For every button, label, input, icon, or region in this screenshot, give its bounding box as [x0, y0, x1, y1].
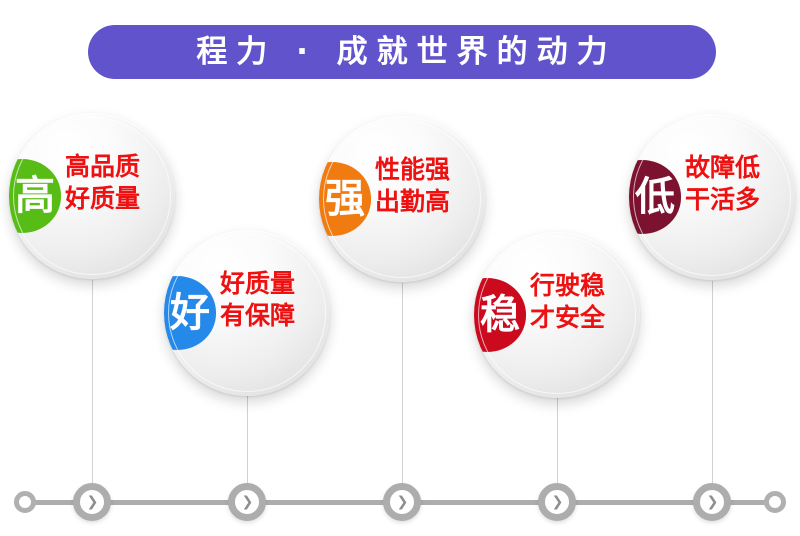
timeline-node-4[interactable]: ❯ [538, 483, 576, 521]
chevron-right-icon: ❯ [397, 495, 409, 509]
stem-3 [402, 283, 403, 502]
page-title: 程力 · 成就世界的动力 [187, 37, 616, 68]
feature-line-1: 高品质 [65, 151, 171, 183]
feature-line-2: 好质量 [65, 183, 171, 215]
header-banner: 程力 · 成就世界的动力 [88, 25, 716, 79]
chevron-right-icon: ❯ [707, 495, 719, 509]
badge-good: 好 [164, 276, 216, 350]
feature-line-1: 故障低 [685, 152, 791, 184]
chevron-right-icon: ❯ [242, 495, 254, 509]
feature-text-low: 故障低 干活多 [685, 152, 791, 216]
chevron-right-icon: ❯ [87, 495, 99, 509]
stem-5 [712, 281, 713, 502]
feature-line-1: 行驶稳 [530, 270, 636, 302]
feature-bubble-good[interactable]: 好 好质量 有保障 [164, 230, 330, 396]
timeline-node-3[interactable]: ❯ [383, 483, 421, 521]
timeline-node-5[interactable]: ❯ [693, 483, 731, 521]
feature-text-good: 好质量 有保障 [220, 268, 326, 332]
feature-bubble-high[interactable]: 高 高品质 好质量 [9, 113, 175, 279]
badge-high: 高 [9, 159, 61, 233]
badge-char: 稳 [480, 295, 520, 335]
timeline-cap-left [14, 491, 36, 513]
badge-char: 强 [325, 179, 365, 219]
chevron-right-icon: ❯ [552, 495, 564, 509]
badge-char: 好 [170, 293, 210, 333]
badge-strong: 强 [319, 162, 371, 236]
badge-char: 低 [635, 177, 675, 217]
timeline-node-2[interactable]: ❯ [228, 483, 266, 521]
feature-line-2: 才安全 [530, 302, 636, 334]
badge-stable: 稳 [474, 278, 526, 352]
feature-text-strong: 性能强 出勤高 [375, 154, 481, 218]
feature-line-2: 干活多 [685, 184, 791, 216]
feature-bubble-low[interactable]: 低 故障低 干活多 [629, 114, 795, 280]
feature-bubble-strong[interactable]: 强 性能强 出勤高 [319, 116, 485, 282]
badge-low: 低 [629, 160, 681, 234]
feature-line-1: 性能强 [375, 154, 481, 186]
timeline-cap-right [764, 491, 786, 513]
feature-text-high: 高品质 好质量 [65, 151, 171, 215]
stem-1 [92, 280, 93, 502]
promo-poster: 程力 · 成就世界的动力 高 高品质 好质量 强 性能强 出勤高 低 故障低 干… [0, 0, 800, 536]
feature-line-2: 有保障 [220, 300, 326, 332]
feature-line-1: 好质量 [220, 268, 326, 300]
feature-text-stable: 行驶稳 才安全 [530, 270, 636, 334]
timeline-node-1[interactable]: ❯ [73, 483, 111, 521]
feature-line-2: 出勤高 [375, 186, 481, 218]
feature-bubble-stable[interactable]: 稳 行驶稳 才安全 [474, 232, 640, 398]
badge-char: 高 [15, 176, 55, 216]
